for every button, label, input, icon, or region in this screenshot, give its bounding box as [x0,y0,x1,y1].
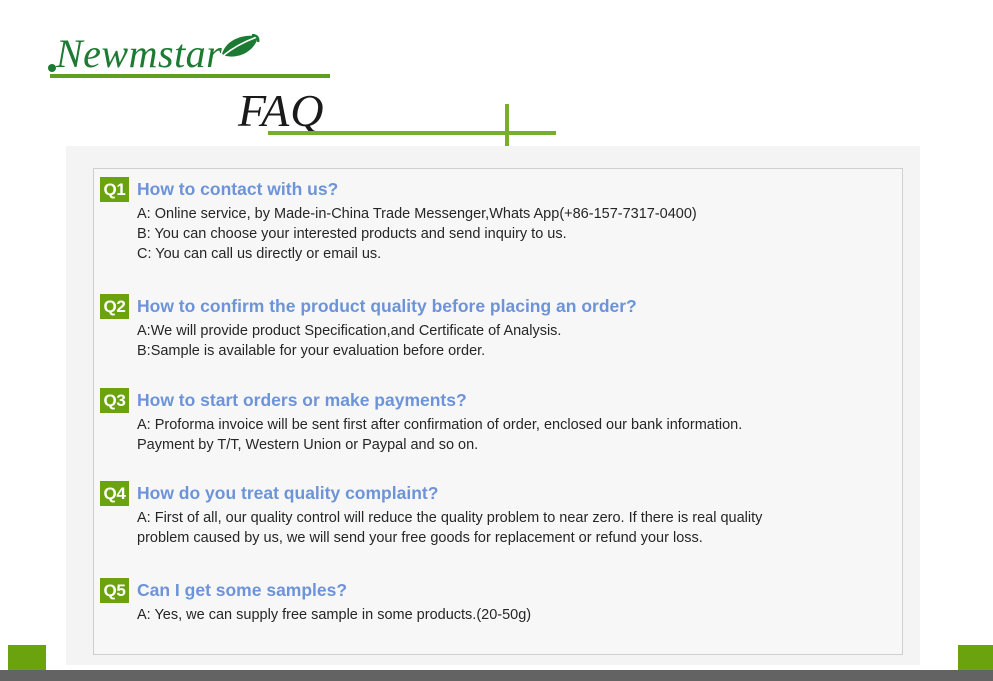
answer-block: A:We will provide product Specification,… [137,321,897,361]
faq-item: Q1How to contact with us?A: Online servi… [100,177,900,202]
answer-line: C: You can call us directly or email us. [137,244,897,264]
faq-item: Q3How to start orders or make payments?A… [100,388,900,413]
answer-line: A: First of all, our quality control wil… [137,508,897,528]
decorative-square-left [8,645,46,673]
answer-line: problem caused by us, we will send your … [137,528,897,548]
decorative-square-right [958,645,993,673]
answer-line: A: Yes, we can supply free sample in som… [137,605,897,625]
brand-underline [50,74,330,78]
logo-dot-icon [48,64,56,72]
question-number-badge: Q3 [100,388,129,413]
faq-question-row: Q1How to contact with us? [100,177,900,202]
answer-line: A:We will provide product Specification,… [137,321,897,341]
question-number-badge: Q5 [100,578,129,603]
answer-line: A: Online service, by Made-in-China Trad… [137,204,897,224]
brand-wordmark: Newmstar [56,32,222,76]
title-underline [268,131,556,135]
question-text: Can I get some samples? [137,578,347,603]
question-text: How to contact with us? [137,177,338,202]
faq-question-row: Q2How to confirm the product quality bef… [100,294,900,319]
answer-block: A: Proforma invoice will be sent first a… [137,415,897,455]
question-text: How to confirm the product quality befor… [137,294,637,319]
faq-question-row: Q3How to start orders or make payments? [100,388,900,413]
question-text: How do you treat quality complaint? [137,481,438,506]
answer-block: A: Yes, we can supply free sample in som… [137,605,897,625]
answer-block: A: Online service, by Made-in-China Trad… [137,204,897,264]
answer-line: B:Sample is available for your evaluatio… [137,341,897,361]
faq-question-row: Q5Can I get some samples? [100,578,900,603]
page-title: FAQ [238,86,325,136]
footer-bar [0,670,993,681]
question-number-badge: Q4 [100,481,129,506]
question-number-badge: Q1 [100,177,129,202]
slide-header: Newmstar FAQ [0,0,993,150]
faq-item: Q2How to confirm the product quality bef… [100,294,900,319]
answer-line: A: Proforma invoice will be sent first a… [137,415,897,435]
answer-line: Payment by T/T, Western Union or Paypal … [137,435,897,455]
faq-item: Q4How do you treat quality complaint?A: … [100,481,900,506]
answer-line: B: You can choose your interested produc… [137,224,897,244]
question-number-badge: Q2 [100,294,129,319]
answer-block: A: First of all, our quality control wil… [137,508,897,548]
title-cross-accent [505,104,509,150]
faq-container: Q1How to contact with us?A: Online servi… [93,168,903,655]
leaf-icon [220,34,260,60]
faq-item: Q5Can I get some samples?A: Yes, we can … [100,578,900,603]
question-text: How to start orders or make payments? [137,388,467,413]
brand-logo: Newmstar [48,36,338,84]
faq-question-row: Q4How do you treat quality complaint? [100,481,900,506]
